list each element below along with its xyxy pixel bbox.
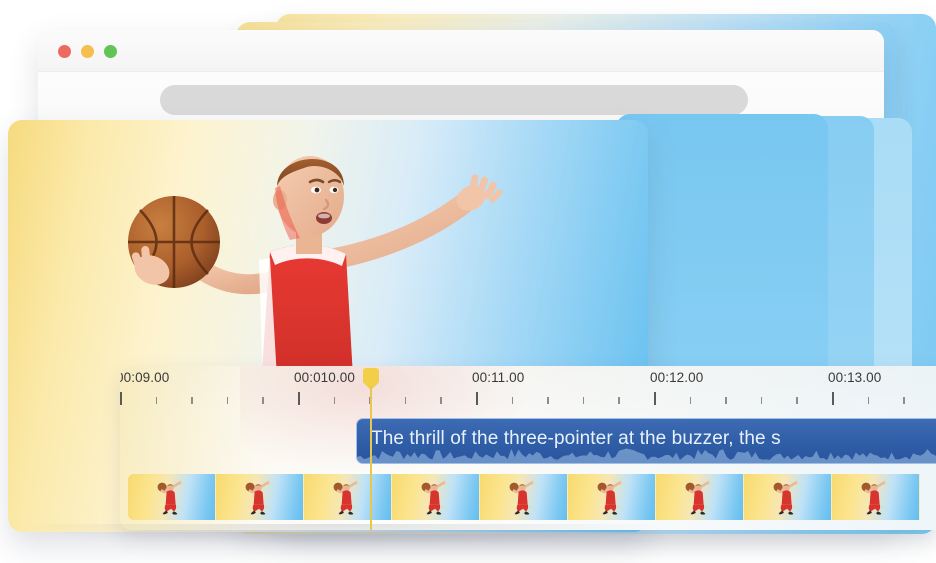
frame-thumbnail-icon [154, 477, 190, 517]
close-icon[interactable] [58, 45, 71, 58]
ruler-tick-minor [191, 397, 193, 404]
frame-thumbnail-icon [594, 477, 630, 517]
ruler-label: 00:09.00 [120, 370, 169, 385]
filmstrip-frame[interactable] [568, 474, 656, 520]
address-bar-input[interactable] [160, 85, 748, 115]
ruler-tick-major [120, 392, 122, 405]
frame-thumbnail-icon [242, 477, 278, 517]
timeline-playhead[interactable] [363, 366, 379, 530]
ruler-tick-minor [868, 397, 870, 404]
browser-title-bar [38, 30, 884, 72]
timeline-panel[interactable]: 00:09.0000:010.0000:11.0000:12.0000:13.0… [120, 366, 936, 530]
ruler-label: 00:12.00 [650, 370, 703, 385]
ruler-tick-minor [583, 397, 585, 404]
ruler-tick-minor [405, 397, 407, 404]
minimize-icon[interactable] [81, 45, 94, 58]
playhead-line [370, 386, 372, 530]
ruler-label: 00:010.00 [294, 370, 355, 385]
frame-thumbnail-icon [506, 477, 542, 517]
ruler-tick-major [654, 392, 656, 405]
filmstrip-track[interactable] [128, 474, 936, 520]
frame-thumbnail-icon [682, 477, 718, 517]
ruler-tick-minor [227, 397, 229, 404]
ruler-label: 00:11.00 [472, 370, 524, 385]
ruler-tick-minor [512, 397, 514, 404]
filmstrip-frame[interactable] [216, 474, 304, 520]
caption-clip[interactable]: The thrill of the three-pointer at the b… [356, 418, 936, 464]
ruler-tick-major [832, 392, 834, 405]
ruler-tick-minor [690, 397, 692, 404]
ruler-tick-minor [618, 397, 620, 404]
ruler-tick-major [476, 392, 478, 405]
screenshot-stage: 00:09.0000:010.0000:11.0000:12.0000:13.0… [0, 0, 936, 563]
ruler-tick-minor [547, 397, 549, 404]
filmstrip-frame[interactable] [480, 474, 568, 520]
filmstrip-frame[interactable] [392, 474, 480, 520]
ruler-tick-minor [725, 397, 727, 404]
frame-thumbnail-icon [858, 477, 894, 517]
ruler-label: 00:13.00 [828, 370, 881, 385]
frame-thumbnail-icon [418, 477, 454, 517]
frame-thumbnail-icon [330, 477, 366, 517]
filmstrip-frame[interactable] [832, 474, 920, 520]
caption-text: The thrill of the three-pointer at the b… [371, 428, 781, 450]
filmstrip-frame[interactable] [656, 474, 744, 520]
ruler-tick-minor [761, 397, 763, 404]
filmstrip-frame[interactable] [128, 474, 216, 520]
ruler-tick-minor [903, 397, 905, 404]
ruler-tick-minor [796, 397, 798, 404]
maximize-icon[interactable] [104, 45, 117, 58]
ruler-tick-minor [262, 397, 264, 404]
ruler-tick-minor [440, 397, 442, 404]
filmstrip-frame[interactable] [744, 474, 832, 520]
ruler-tick-major [298, 392, 300, 405]
ruler-tick-minor [156, 397, 158, 404]
frame-thumbnail-icon [770, 477, 806, 517]
timeline-ruler[interactable]: 00:09.0000:010.0000:11.0000:12.0000:13.0… [120, 366, 936, 412]
ruler-tick-minor [334, 397, 336, 404]
